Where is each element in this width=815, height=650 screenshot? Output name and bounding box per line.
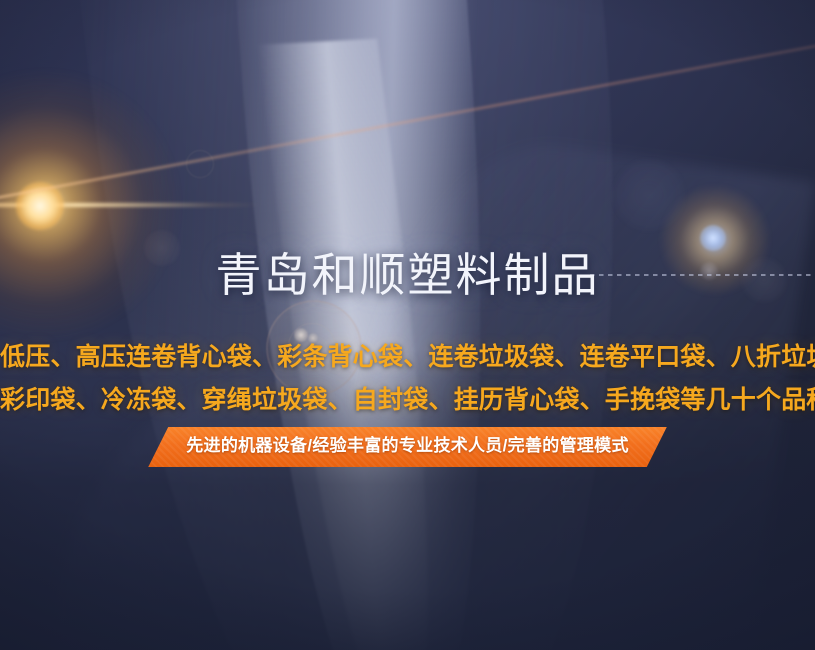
product-list-line: 彩印袋、冷冻袋、穿绳垃圾袋、自封袋、挂历背心袋、手挽袋等几十个品种 — [0, 379, 815, 422]
tagline-container: 先进的机器设备/经验丰富的专业技术人员/完善的管理模式 — [0, 427, 815, 467]
product-list: 低压、高压连卷背心袋、彩条背心袋、连卷垃圾袋、连卷平口袋、八折垃圾袋、 彩印袋、… — [0, 336, 815, 422]
background-vignette — [0, 0, 815, 650]
product-list-line: 低压、高压连卷背心袋、彩条背心袋、连卷垃圾袋、连卷平口袋、八折垃圾袋、 — [0, 336, 815, 379]
tagline-ribbon: 先进的机器设备/经验丰富的专业技术人员/完善的管理模式 — [148, 427, 667, 467]
promotional-banner: 青岛和顺塑料制品 低压、高压连卷背心袋、彩条背心袋、连卷垃圾袋、连卷平口袋、八折… — [0, 0, 815, 650]
page-title: 青岛和顺塑料制品 — [0, 247, 815, 303]
